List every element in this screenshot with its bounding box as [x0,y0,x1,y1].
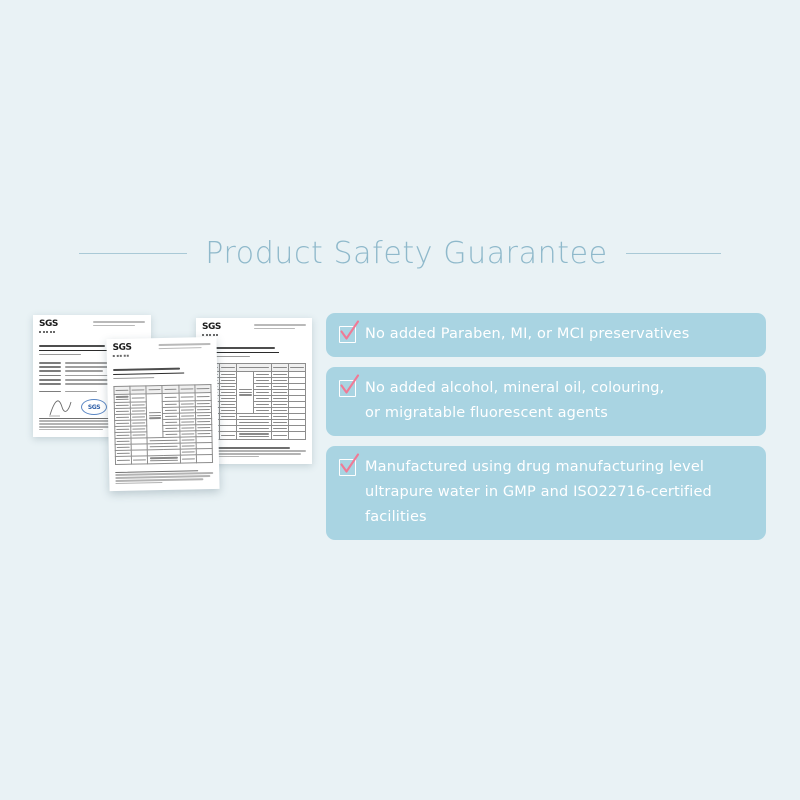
checkbox-checked-icon[interactable] [339,459,356,476]
guarantee-text-line: No added Paraben, MI, or MCI preservativ… [365,322,689,347]
guarantee-text-1: No added Paraben, MI, or MCI preservativ… [365,322,689,347]
certificate-results-table-3 [113,384,213,465]
checkmark-icon [338,453,362,477]
signature-mark-1 [47,393,81,419]
guarantee-text-line: ultrapure water in GMP and ISO22716-cert… [365,480,712,505]
checkmark-icon [338,374,362,398]
certificate-gallery: SGS [0,0,330,560]
certificate-document-3: SGS [106,337,219,491]
title-rule-right [626,253,721,254]
guarantee-item-1[interactable]: No added Paraben, MI, or MCI preservativ… [326,313,766,357]
certificate-header-meta-2 [254,324,306,331]
guarantee-list: No added Paraben, MI, or MCI preservativ… [326,313,766,540]
guarantee-item-2[interactable]: No added alcohol, mineral oil, colouring… [326,367,766,436]
checkmark-icon [338,320,362,344]
guarantee-item-3[interactable]: Manufactured using drug manufacturing le… [326,446,766,540]
checkbox-checked-icon[interactable] [339,326,356,343]
certificate-header-meta-3 [159,343,211,351]
guarantee-text-2: No added alcohol, mineral oil, colouring… [365,376,664,426]
guarantee-text-line: or migratable fluorescent agents [365,401,664,426]
certificate-body-3: SGS [106,337,219,491]
guarantee-text-3: Manufactured using drug manufacturing le… [365,455,712,530]
sgs-stamp-icon: SGS [81,399,107,415]
guarantee-text-line: Manufactured using drug manufacturing le… [365,455,712,480]
certificate-header-meta-1 [93,321,145,328]
certificate-footer-3 [115,470,213,487]
checkbox-checked-icon[interactable] [339,380,356,397]
guarantee-text-line: facilities [365,505,712,530]
guarantee-text-line: No added alcohol, mineral oil, colouring… [365,376,664,401]
sgs-stamp-label: SGS [88,404,100,411]
